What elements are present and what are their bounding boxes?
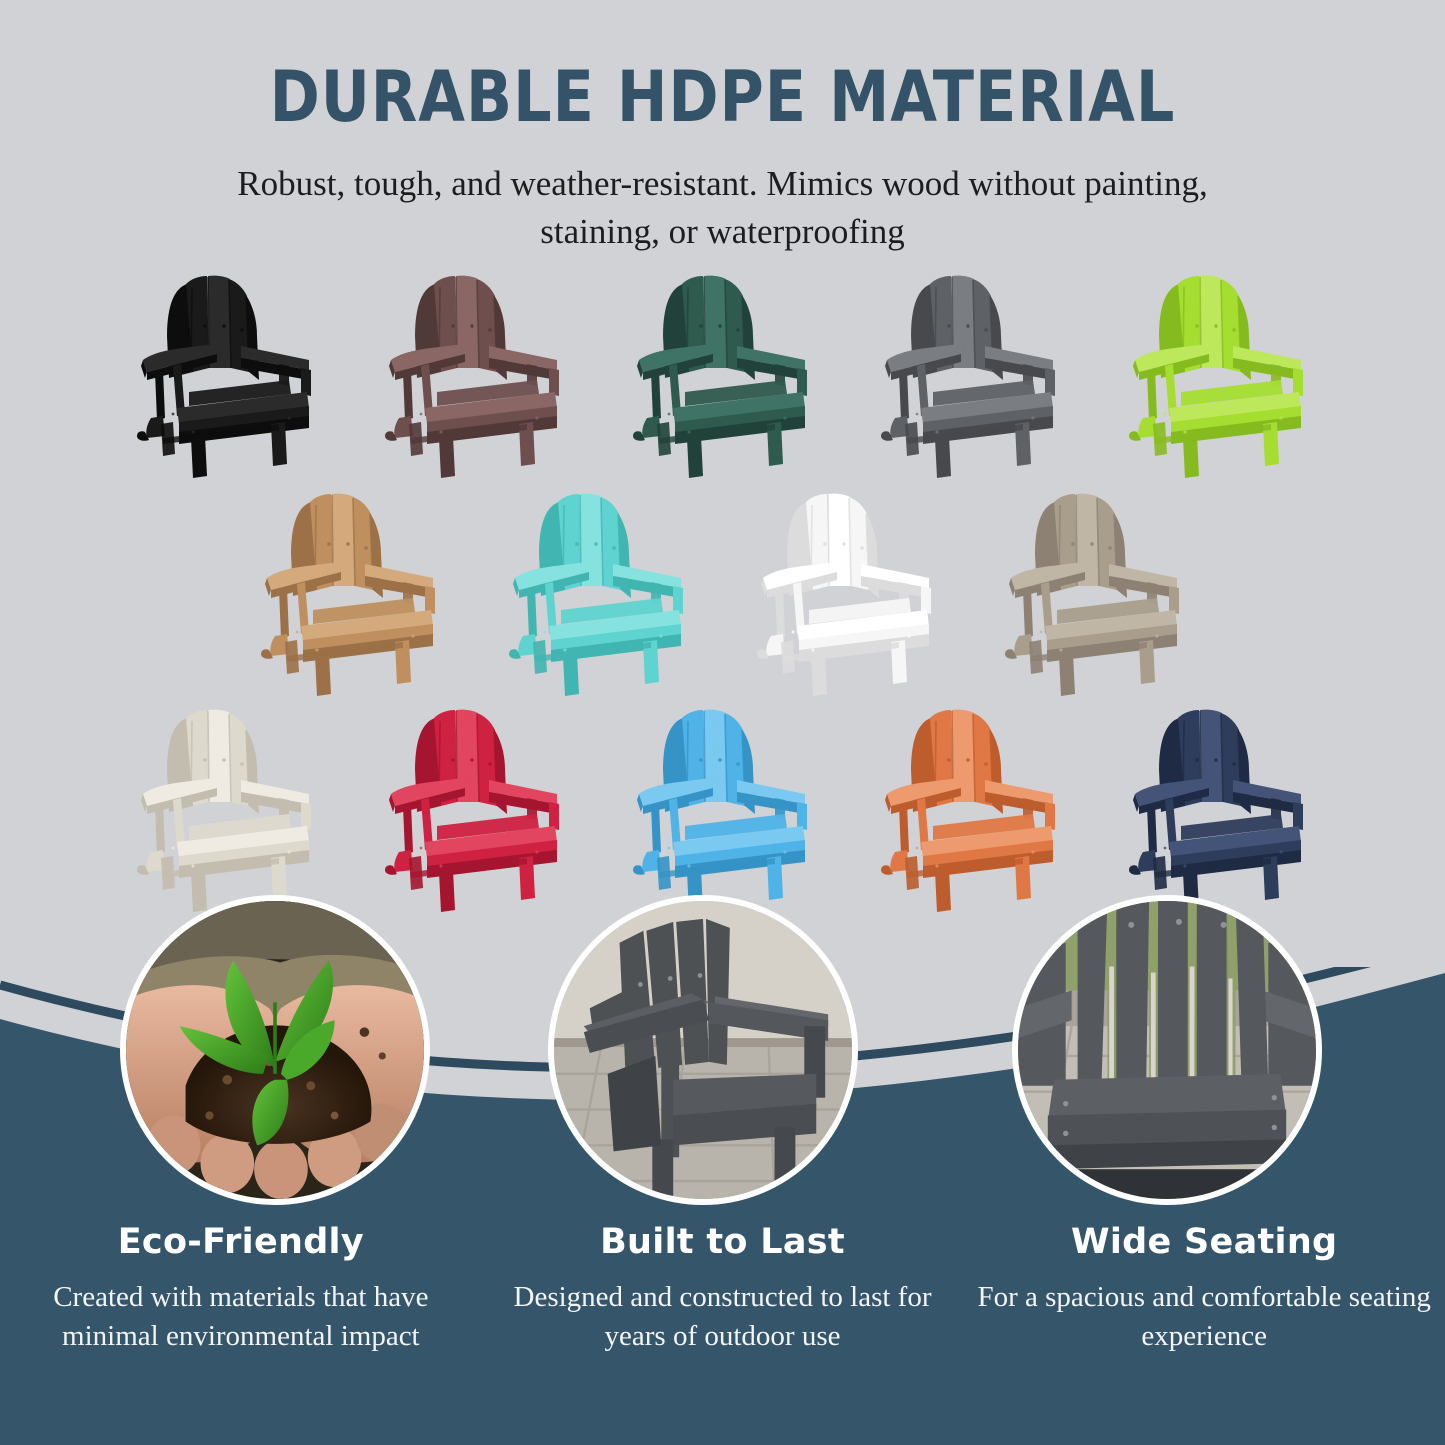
chair-dark-green: [625, 268, 821, 480]
page-title: DURABLE HDPE MATERIAL: [29, 62, 1416, 132]
chair-white: [749, 486, 945, 698]
chair-color-grid: [0, 268, 1445, 914]
feature-circles: [0, 895, 1445, 1215]
page-subtitle: Robust, tough, and weather-resistant. Mi…: [223, 160, 1223, 257]
chair-brown: [377, 268, 573, 480]
chair-weathered-wood: [997, 486, 1193, 698]
feature-description: Designed and constructed to last for yea…: [496, 1278, 950, 1355]
feature-title: Eco-Friendly: [14, 1222, 468, 1262]
chair-black: [129, 268, 325, 480]
chair-teak: [253, 486, 449, 698]
chair-wide-seat-closeup-photo: [1018, 901, 1316, 1199]
chair-ivory: [129, 702, 325, 914]
feature-description: For a spacious and comfortable seating e…: [977, 1278, 1431, 1355]
feature-built-to-last: Built to Last Designed and constructed t…: [482, 1222, 964, 1355]
chair-lime-green: [1121, 268, 1317, 480]
hands-holding-seedling-photo: [126, 901, 424, 1199]
chair-row-1: [0, 268, 1445, 480]
chair-row-2: [0, 486, 1445, 698]
chair-navy: [1121, 702, 1317, 914]
chair-light-blue: [625, 702, 821, 914]
feature-photo-wide-seating: [1012, 895, 1322, 1205]
feature-text-row: Eco-Friendly Created with materials that…: [0, 1222, 1445, 1355]
chair-orange: [873, 702, 1069, 914]
chair-dark-gray: [873, 268, 1069, 480]
feature-photo-eco-friendly: [120, 895, 430, 1205]
header: DURABLE HDPE MATERIAL Robust, tough, and…: [0, 62, 1445, 257]
infographic-stage: DURABLE HDPE MATERIAL Robust, tough, and…: [0, 0, 1445, 1445]
gray-adirondack-chair-on-patio-photo: [554, 901, 852, 1199]
feature-description: Created with materials that have minimal…: [14, 1278, 468, 1355]
feature-wide-seating: Wide Seating For a spacious and comforta…: [963, 1222, 1445, 1355]
chair-row-3: [0, 702, 1445, 914]
feature-title: Wide Seating: [977, 1222, 1431, 1262]
feature-eco-friendly: Eco-Friendly Created with materials that…: [0, 1222, 482, 1355]
feature-title: Built to Last: [496, 1222, 950, 1262]
chair-turquoise: [501, 486, 697, 698]
feature-photo-built-to-last: [548, 895, 858, 1205]
chair-red: [377, 702, 573, 914]
